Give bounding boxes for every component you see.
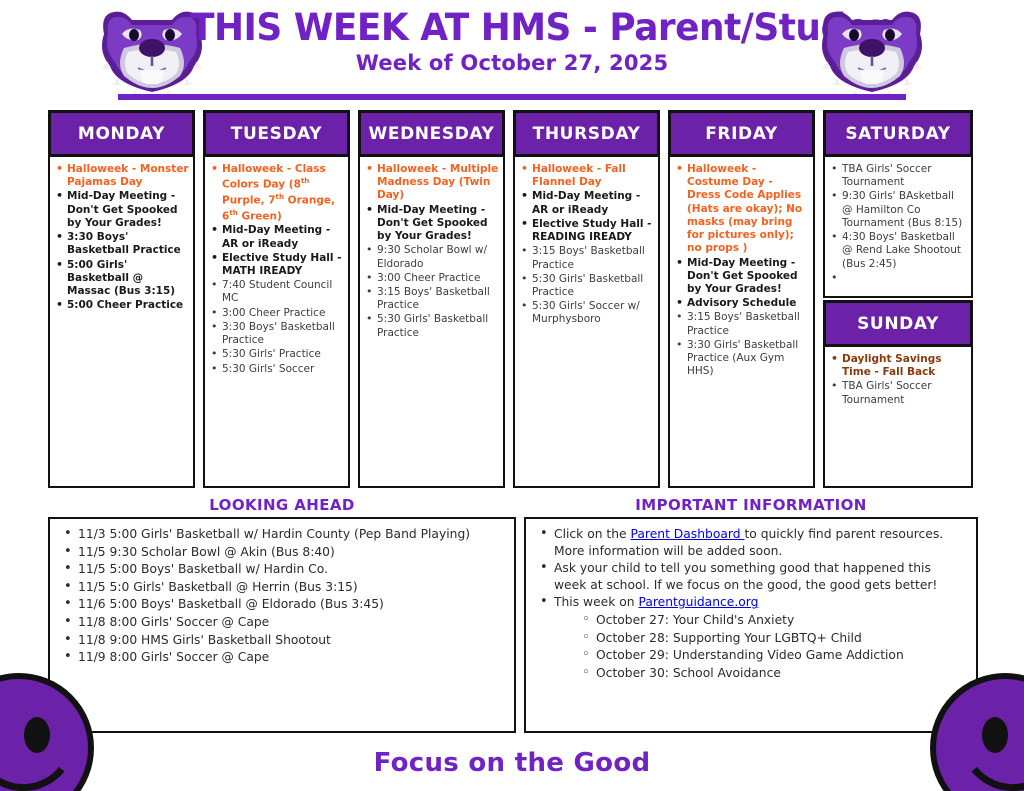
event-list-saturday: TBA Girls' Soccer Tournament 9:30 Girls'… [827,163,967,276]
day-body-thursday: Halloweek - Fall Flannel Day Mid-Day Mee… [513,157,660,488]
list-item: 4:30 Boys' Basketball @ Rend Lake Shooto… [827,231,967,271]
list-item: 3:30 Boys' Basketball Practice [207,321,344,347]
list-item: TBA Girls' Soccer Tournament [827,163,967,189]
list-item: October 29: Understanding Video Game Add… [574,647,966,664]
list-item: Mid-Day Meeting - AR or iReady [517,190,654,216]
important-information-section: IMPORTANT INFORMATION Click on the Paren… [524,496,978,733]
header-divider [118,94,906,100]
day-column-monday: MONDAY Halloweek - Monster Pajamas Day M… [48,110,195,488]
info-text-pre: Click on the [554,527,631,541]
list-item: 11/9 8:00 Girls' Soccer @ Cape [56,649,504,666]
list-item: 5:30 Girls' Basketball Practice [517,273,654,299]
list-item: 9:30 Scholar Bowl w/ Eldorado [362,244,499,270]
list-item: 5:00 Cheer Practice [52,299,189,312]
event-list-wednesday: Halloweek - Multiple Madness Day (Twin D… [362,163,499,340]
day-column-weekend: SATURDAY TBA Girls' Soccer Tournament 9:… [823,110,973,488]
list-item: Mid-Day Meeting - Don't Get Spooked by Y… [362,204,499,244]
list-item: Advisory Schedule [672,297,809,310]
page-subtitle: Week of October 27, 2025 [180,51,844,75]
bulldog-mascot-icon [814,4,930,100]
list-item: 5:30 Girls' Practice [207,348,344,361]
list-item: October 27: Your Child's Anxiety [574,612,966,629]
event-list-monday: Halloweek - Monster Pajamas Day Mid-Day … [52,163,189,312]
event-list-thursday: Halloweek - Fall Flannel Day Mid-Day Mee… [517,163,654,327]
title-block: THIS WEEK AT HMS - Parent/Student Week o… [180,8,844,75]
list-item: Halloweek - Fall Flannel Day [517,163,654,189]
event-list-friday: Halloweek - Costume Day - Dress Code App… [672,163,809,379]
list-item: October 28: Supporting Your LGBTQ+ Child [574,630,966,647]
list-item: 3:30 Girls' Basketball Practice (Aux Gym… [672,339,809,379]
event-list-sunday: Daylight Savings Time - Fall Back TBA Gi… [827,353,967,407]
page-header: THIS WEEK AT HMS - Parent/Student Week o… [0,0,1024,104]
list-item: 9:30 Girls' BAsketball @ Hamilton Co Tou… [827,190,967,230]
lower-sections: LOOKING AHEAD 11/3 5:00 Girls' Basketbal… [48,496,978,733]
list-item: 11/5 5:00 Boys' Basketball w/ Hardin Co. [56,561,504,578]
day-column-tuesday: TUESDAY Halloweek - Class Colors Day (8t… [203,110,350,488]
day-column-wednesday: WEDNESDAY Halloweek - Multiple Madness D… [358,110,505,488]
day-header-monday: MONDAY [48,110,195,157]
list-item: Halloweek - Costume Day - Dress Code App… [672,163,809,256]
list-item: 3:15 Boys' Basketball Practice [362,286,499,312]
day-column-thursday: THURSDAY Halloweek - Fall Flannel Day Mi… [513,110,660,488]
list-item: 5:30 Girls' Basketball Practice [362,313,499,339]
parent-dashboard-link[interactable]: Parent Dashboard [631,527,745,541]
list-item: 11/5 9:30 Scholar Bowl @ Akin (Bus 8:40) [56,544,504,561]
list-item: 5:30 Girls' Soccer w/ Murphysboro [517,300,654,326]
list-item: Halloweek - Multiple Madness Day (Twin D… [362,163,499,203]
day-body-saturday: TBA Girls' Soccer Tournament 9:30 Girls'… [823,157,973,298]
important-information-title: IMPORTANT INFORMATION [524,496,978,514]
list-item: 11/6 5:00 Boys' Basketball @ Eldorado (B… [56,596,504,613]
list-item: Mid-Day Meeting - Don't Get Spooked by Y… [52,190,189,230]
day-body-tuesday: Halloweek - Class Colors Day (8th Purple… [203,157,350,488]
day-column-friday: FRIDAY Halloweek - Costume Day - Dress C… [668,110,815,488]
day-body-wednesday: Halloweek - Multiple Madness Day (Twin D… [358,157,505,488]
list-item: 11/5 5:0 Girls' Basketball @ Herrin (Bus… [56,579,504,596]
page-title: THIS WEEK AT HMS - Parent/Student [190,8,834,47]
list-item: Mid-Day Meeting - AR or iReady [207,224,344,250]
list-item: 3:00 Cheer Practice [362,272,499,285]
list-item: 5:30 Girls' Soccer [207,363,344,376]
newsletter-page: THIS WEEK AT HMS - Parent/Student Week o… [0,0,1024,791]
day-header-thursday: THURSDAY [513,110,660,157]
parentguidance-sublist: October 27: Your Child's Anxiety October… [574,612,966,681]
list-item: Halloweek - Class Colors Day (8th Purple… [207,163,344,223]
list-item: Elective Study Hall - READING IREADY [517,218,654,244]
list-item: Click on the Parent Dashboard to quickly… [532,526,966,559]
list-item: 5:00 Girls' Basketball @ Massac (Bus 3:1… [52,259,189,299]
list-item: Elective Study Hall - MATH IREADY [207,252,344,278]
day-header-friday: FRIDAY [668,110,815,157]
parentguidance-link[interactable]: Parentguidance.org [638,595,758,609]
footer-slogan: Focus on the Good [0,748,1024,778]
day-body-sunday: Daylight Savings Time - Fall Back TBA Gi… [823,347,973,488]
day-header-tuesday: TUESDAY [203,110,350,157]
day-header-saturday: SATURDAY [823,110,973,157]
list-item [827,272,967,276]
day-body-monday: Halloweek - Monster Pajamas Day Mid-Day … [48,157,195,488]
event-list-tuesday: Halloweek - Class Colors Day (8th Purple… [207,163,344,376]
list-item: TBA Girls' Soccer Tournament [827,380,967,406]
list-item: October 30: School Avoidance [574,665,966,682]
list-item: Mid-Day Meeting - Don't Get Spooked by Y… [672,257,809,297]
list-item: Ask your child to tell you something goo… [532,560,966,593]
list-item: This week on Parentguidance.org October … [532,594,966,681]
day-body-friday: Halloweek - Costume Day - Dress Code App… [668,157,815,488]
day-header-wednesday: WEDNESDAY [358,110,505,157]
looking-ahead-section: LOOKING AHEAD 11/3 5:00 Girls' Basketbal… [48,496,516,733]
week-grid: MONDAY Halloweek - Monster Pajamas Day M… [48,110,978,488]
looking-ahead-title: LOOKING AHEAD [48,496,516,514]
list-item: Daylight Savings Time - Fall Back [827,353,967,379]
list-item: 3:15 Boys' Basketball Practice [672,311,809,337]
list-item: 3:30 Boys' Basketball Practice [52,231,189,257]
list-item: Halloweek - Monster Pajamas Day [52,163,189,189]
list-item: 11/8 8:00 Girls' Soccer @ Cape [56,614,504,631]
list-item: 3:15 Boys' Basketball Practice [517,245,654,271]
looking-ahead-list: 11/3 5:00 Girls' Basketball w/ Hardin Co… [56,526,504,666]
list-item: 11/3 5:00 Girls' Basketball w/ Hardin Co… [56,526,504,543]
day-header-sunday: SUNDAY [823,300,973,347]
important-information-list: Click on the Parent Dashboard to quickly… [532,526,966,681]
info-text-pre: This week on [554,595,638,609]
important-information-box: Click on the Parent Dashboard to quickly… [524,517,978,733]
list-item: 3:00 Cheer Practice [207,307,344,320]
looking-ahead-box: 11/3 5:00 Girls' Basketball w/ Hardin Co… [48,517,516,733]
list-item: 11/8 9:00 HMS Girls' Basketball Shootout [56,632,504,649]
list-item: 7:40 Student Council MC [207,279,344,305]
